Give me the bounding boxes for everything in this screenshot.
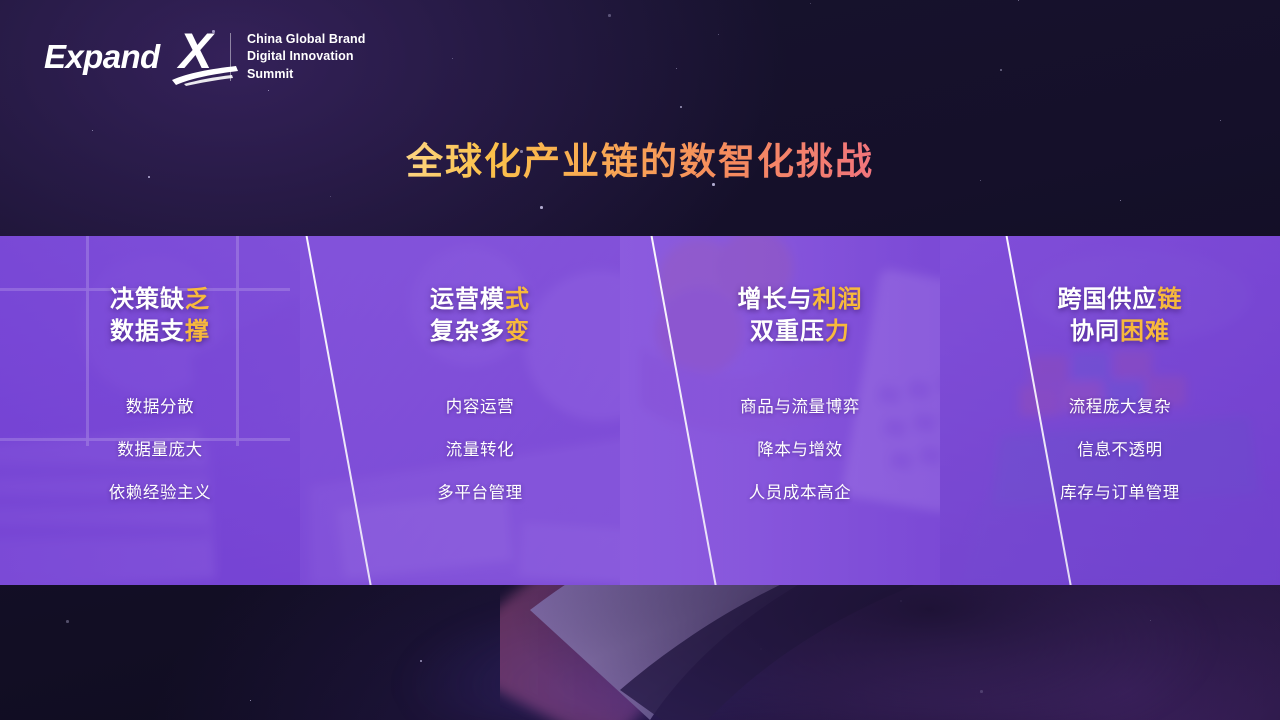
- heading-plain: 双重压: [750, 318, 825, 345]
- challenge-column-2: 运营模式复杂多变内容运营流量转化多平台管理: [320, 236, 640, 585]
- tagline-line-3: Summit: [247, 66, 365, 83]
- heading-plain: 数据支: [110, 318, 185, 345]
- heading-highlight: 式: [505, 286, 530, 313]
- heading-highlight: 利润: [813, 286, 863, 313]
- star-dot: [66, 620, 69, 623]
- challenge-columns: 决策缺乏数据支撑数据分散数据量庞大依赖经验主义运营模式复杂多变内容运营流量转化多…: [0, 236, 1280, 585]
- column-item-list: 内容运营流量转化多平台管理: [437, 393, 523, 503]
- list-item: 商品与流量博弈: [740, 393, 860, 417]
- list-item: 降本与增效: [757, 436, 843, 460]
- star-dot: [420, 660, 422, 662]
- star-dot: [712, 183, 715, 186]
- star-dot: [1150, 620, 1151, 621]
- expandx-logomark: Expand X: [44, 26, 220, 88]
- list-item: 人员成本高企: [749, 479, 852, 503]
- column-heading-line-2: 数据支撑: [110, 316, 210, 348]
- list-item: 内容运营: [446, 393, 514, 417]
- list-item: 信息不透明: [1077, 436, 1163, 460]
- heading-plain: 运营模: [430, 286, 505, 313]
- column-heading-line-1: 决策缺乏: [110, 284, 210, 316]
- star-dot: [980, 690, 983, 693]
- column-heading-line-1: 跨国供应链: [1058, 284, 1183, 316]
- heading-plain: 决策缺: [110, 286, 185, 313]
- challenge-band: 决策缺乏数据支撑数据分散数据量庞大依赖经验主义运营模式复杂多变内容运营流量转化多…: [0, 236, 1280, 585]
- heading-plain: 协同: [1070, 318, 1120, 345]
- column-heading: 决策缺乏数据支撑: [110, 284, 210, 347]
- column-item-list: 商品与流量博弈降本与增效人员成本高企: [740, 393, 860, 503]
- brand-logo[interactable]: Expand X China Global Brand Digital Inno…: [44, 24, 365, 90]
- challenge-column-4: 跨国供应链协同困难流程庞大复杂信息不透明库存与订单管理: [960, 236, 1280, 585]
- star-dot: [760, 648, 762, 650]
- list-item: 数据量庞大: [117, 436, 203, 460]
- heading-highlight: 变: [505, 318, 530, 345]
- star-dot: [92, 130, 93, 131]
- logo-wordmark: Expand: [44, 38, 160, 76]
- expandx-swoosh-icon: [170, 64, 240, 86]
- column-heading-line-2: 双重压力: [738, 316, 863, 348]
- heading-plain: 跨国供应: [1058, 286, 1158, 313]
- star-dot: [330, 196, 331, 197]
- slide-root: Expand X China Global Brand Digital Inno…: [0, 0, 1280, 720]
- column-heading: 运营模式复杂多变: [430, 284, 530, 347]
- star-dot: [452, 58, 453, 59]
- star-dot: [1220, 120, 1221, 121]
- column-heading-line-2: 复杂多变: [430, 316, 530, 348]
- list-item: 流程庞大复杂: [1069, 393, 1172, 417]
- column-heading-line-1: 运营模式: [430, 284, 530, 316]
- tagline-line-1: China Global Brand: [247, 31, 365, 48]
- page-title: 全球化产业链的数智化挑战: [0, 141, 1280, 184]
- brand-tagline: China Global Brand Digital Innovation Su…: [247, 31, 365, 83]
- star-dot: [1120, 200, 1121, 201]
- challenge-column-1: 决策缺乏数据支撑数据分散数据量庞大依赖经验主义: [0, 236, 320, 585]
- star-dot: [540, 206, 543, 209]
- heading-highlight: 撑: [185, 318, 210, 345]
- star-dot: [608, 14, 611, 17]
- column-heading: 增长与利润双重压力: [738, 284, 863, 347]
- star-dot: [1000, 69, 1002, 71]
- column-heading: 跨国供应链协同困难: [1058, 284, 1183, 347]
- column-heading-line-1: 增长与利润: [738, 284, 863, 316]
- list-item: 流量转化: [446, 436, 514, 460]
- star-dot: [250, 700, 251, 701]
- list-item: 数据分散: [126, 393, 194, 417]
- heading-highlight: 链: [1158, 286, 1183, 313]
- column-item-list: 流程庞大复杂信息不透明库存与订单管理: [1060, 393, 1180, 503]
- heading-highlight: 乏: [185, 286, 210, 313]
- list-item: 依赖经验主义: [109, 479, 212, 503]
- star-dot: [810, 3, 811, 4]
- star-dot: [268, 90, 269, 91]
- star-dot: [676, 68, 677, 69]
- column-heading-line-2: 协同困难: [1058, 316, 1183, 348]
- heading-highlight: 力: [825, 318, 850, 345]
- tagline-line-2: Digital Innovation: [247, 48, 365, 65]
- star-dot: [1018, 0, 1019, 1]
- heading-plain: 复杂多: [430, 318, 505, 345]
- heading-plain: 增长与: [738, 286, 813, 313]
- star-dot: [680, 106, 682, 108]
- star-dot: [718, 34, 719, 35]
- list-item: 库存与订单管理: [1060, 479, 1180, 503]
- challenge-column-3: 增长与利润双重压力商品与流量博弈降本与增效人员成本高企: [640, 236, 960, 585]
- list-item: 多平台管理: [437, 479, 523, 503]
- column-item-list: 数据分散数据量庞大依赖经验主义: [109, 393, 212, 503]
- heading-highlight: 困难: [1120, 318, 1170, 345]
- star-dot: [900, 600, 902, 602]
